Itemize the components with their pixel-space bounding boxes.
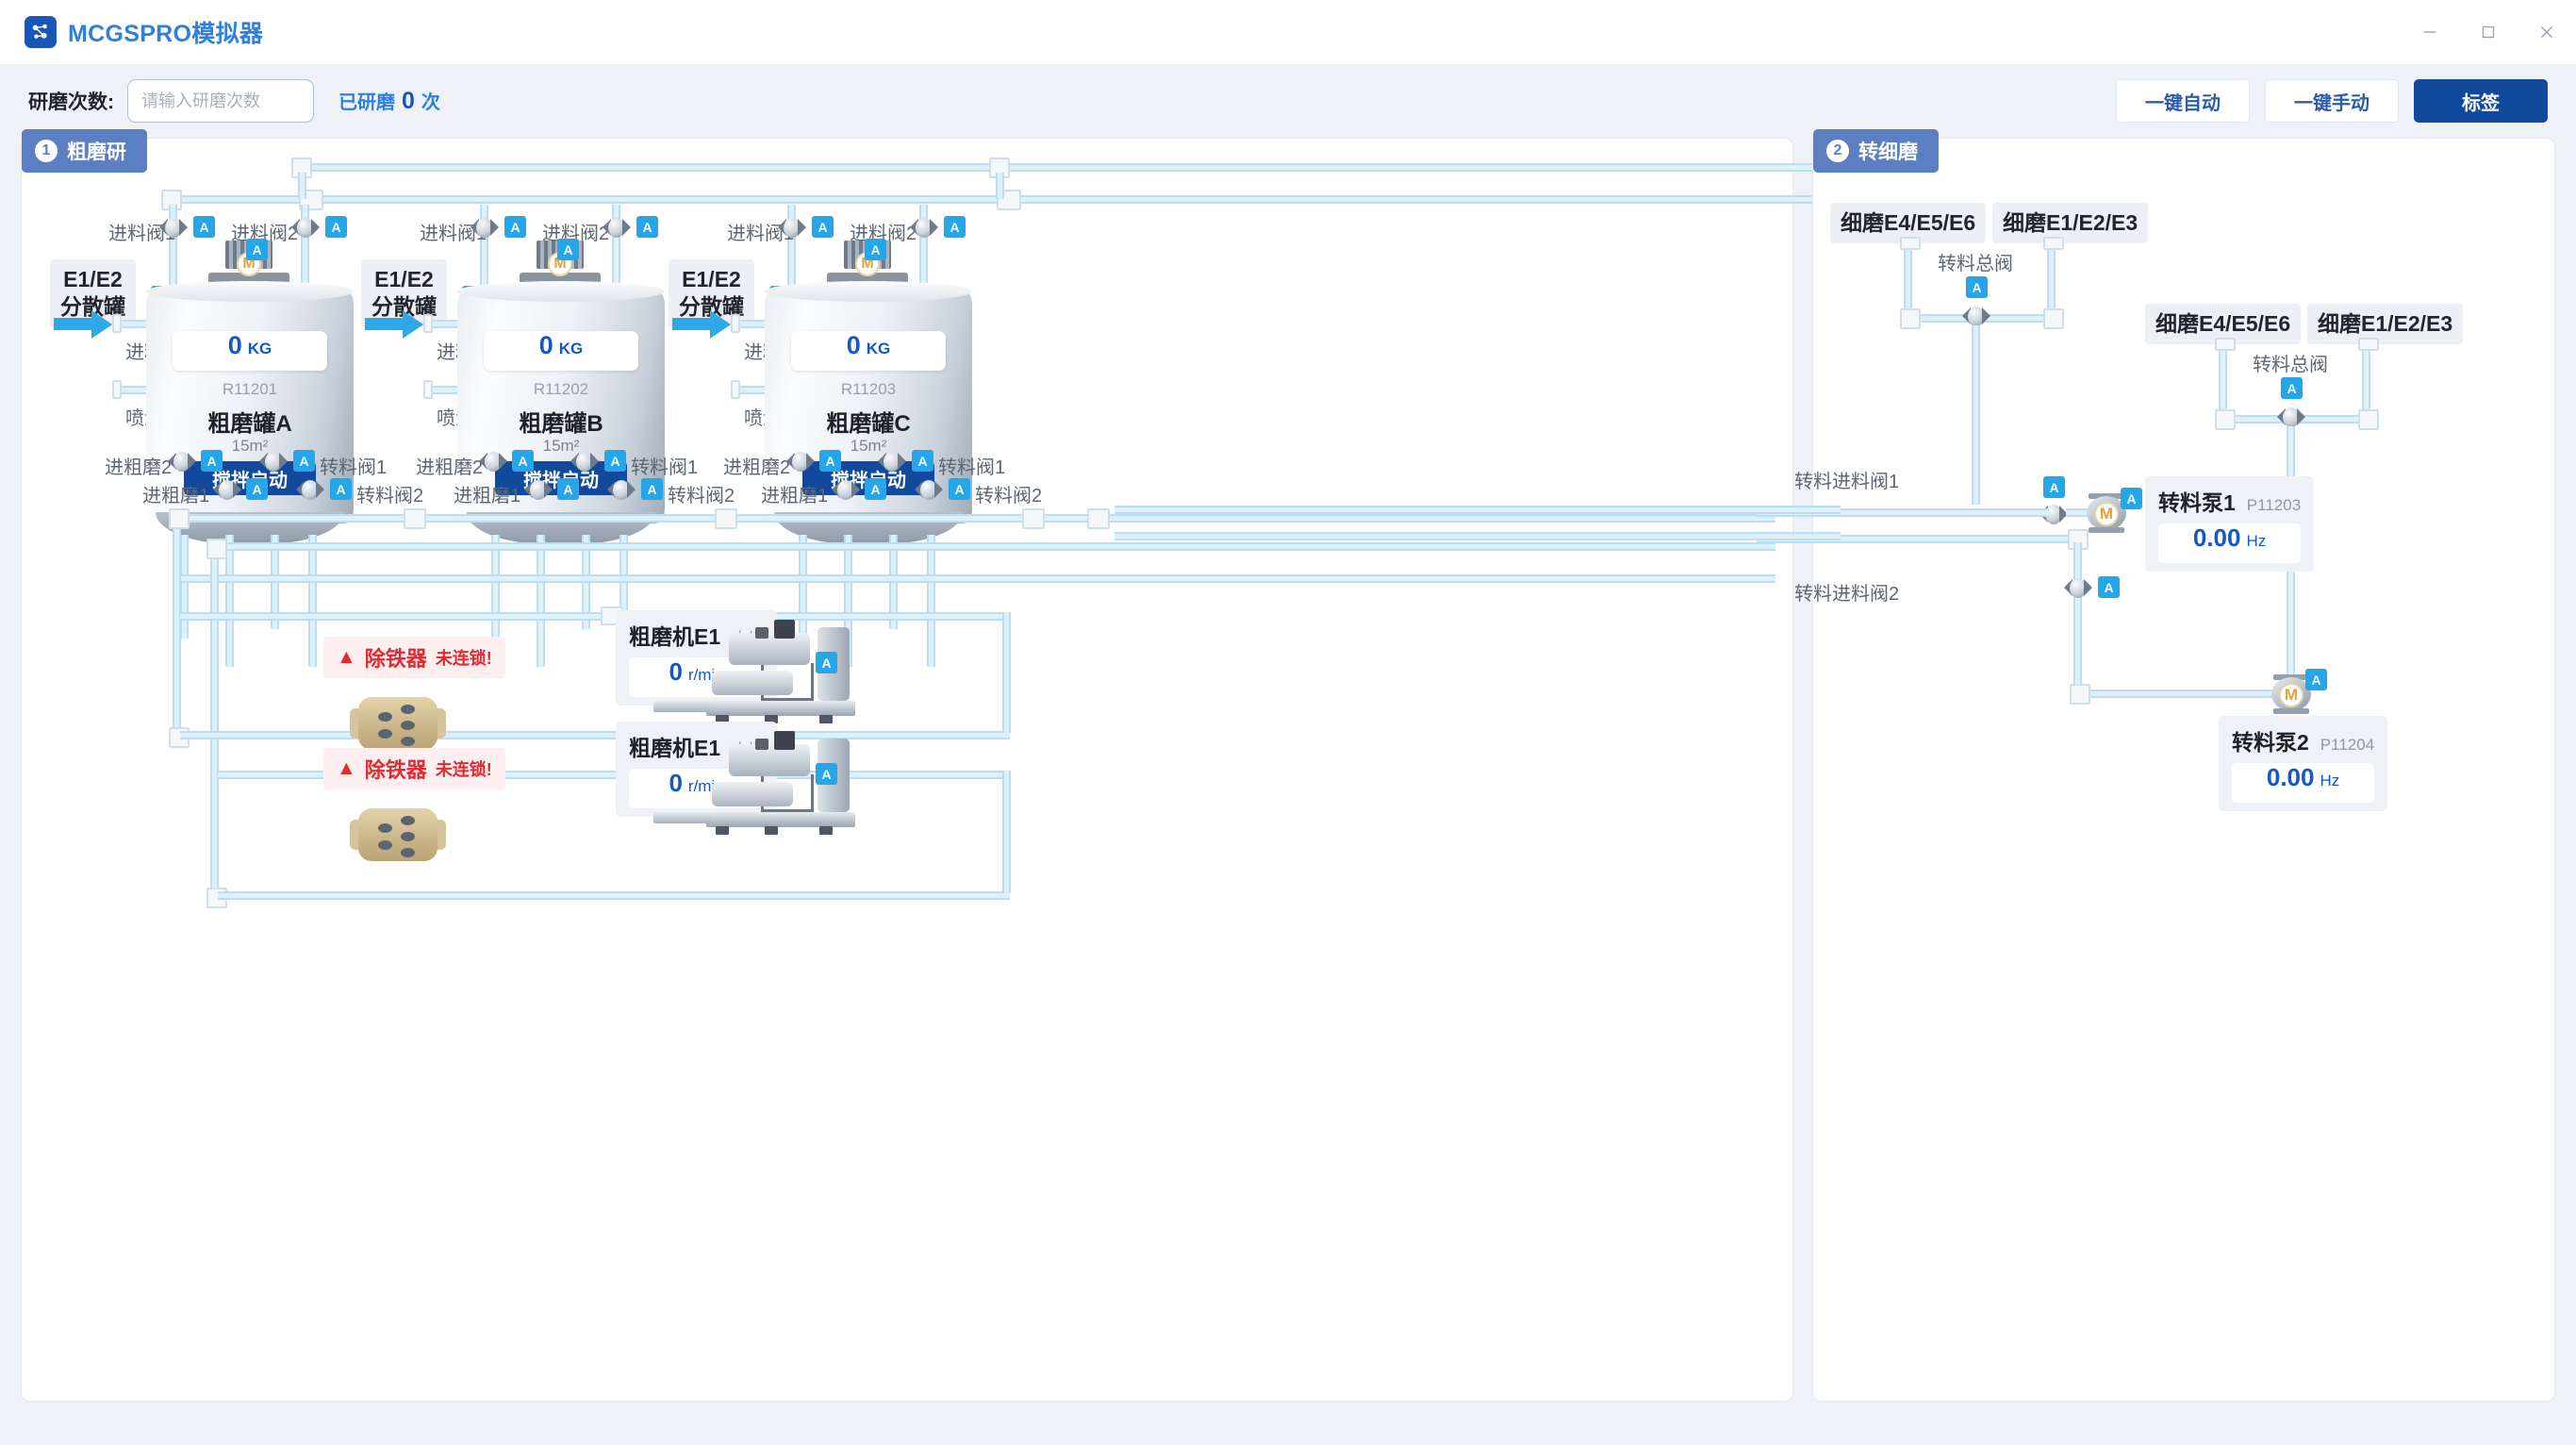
- tank-a-weight: 0 KG: [173, 331, 327, 371]
- transfer-pump-2-value: 0.00: [2267, 763, 2315, 792]
- pipe-elbow: [2358, 409, 2379, 430]
- motor-badge: M: [2094, 502, 2119, 526]
- pipe: [173, 516, 181, 733]
- pipe-cap: [423, 380, 433, 399]
- auto-badge[interactable]: A: [1966, 276, 1988, 298]
- pipe: [1002, 771, 1011, 893]
- motor-badge: M: [2279, 683, 2304, 707]
- pipe: [180, 612, 1010, 621]
- auto-badge[interactable]: A: [912, 450, 933, 472]
- panel-1-badge: 1 粗磨研: [22, 129, 147, 173]
- auto-badge[interactable]: A: [949, 478, 970, 500]
- feed-valve-2-b[interactable]: [603, 216, 631, 241]
- auto-badge[interactable]: A: [201, 450, 223, 472]
- transfer-pump-2-readout: 转料泵2 P11204 0.00 Hz: [2219, 716, 2387, 811]
- pipe-elbow: [1900, 308, 1921, 329]
- auto-badge[interactable]: A: [246, 478, 268, 500]
- auto-badge[interactable]: A: [330, 478, 352, 500]
- pipe: [218, 891, 1010, 900]
- mill-1-speed: 0: [669, 657, 682, 687]
- mill-1-demagnetizer: [350, 697, 446, 750]
- to-coarse-valve-1-b[interactable]: [524, 478, 553, 503]
- valve-label-to-coarse-1-c: 进粗磨1: [761, 480, 828, 507]
- pipe-elbow: [2070, 684, 2090, 705]
- panel-1-title: 粗磨研: [67, 137, 126, 165]
- pipe-cap: [731, 314, 740, 333]
- pipe-cap: [112, 380, 122, 399]
- to-coarse-valve-2-c[interactable]: [786, 450, 815, 474]
- main-transfer-valve-label-1: 转料总阀: [1938, 248, 2013, 275]
- mill-2-alarm-device: 除铁器: [365, 754, 427, 784]
- panel-coarse-grinding: 1 粗磨研 进料阀1 A 进料阀2 A E1/E2 分: [21, 138, 1793, 1402]
- auto-badge[interactable]: A: [2043, 476, 2065, 498]
- transfer-pump-1-name: 转料泵1: [2158, 485, 2236, 517]
- auto-badge[interactable]: A: [636, 216, 658, 238]
- auto-badge[interactable]: A: [557, 239, 579, 260]
- valve-label-transfer-1-b: 转料阀1: [631, 452, 698, 479]
- valve-label-transfer-1-a: 转料阀1: [320, 452, 387, 479]
- feed-valve-1-b[interactable]: [471, 216, 499, 241]
- pipe: [210, 544, 219, 893]
- pipe-cap: [423, 314, 433, 333]
- toolbar: 研磨次数: 已研磨 0 次 一键自动 一键手动 标签: [0, 64, 2576, 138]
- pipe-cap: [1900, 237, 1921, 250]
- pipe: [2047, 241, 2056, 318]
- auto-badge[interactable]: A: [2305, 669, 2327, 690]
- to-coarse-valve-2-b[interactable]: [479, 450, 507, 474]
- auto-badge[interactable]: A: [816, 763, 837, 785]
- grind-count-label: 研磨次数:: [28, 87, 114, 115]
- feed-valve-1-c[interactable]: [778, 216, 806, 241]
- auto-badge[interactable]: A: [2098, 576, 2120, 598]
- pipe-tee: [404, 508, 426, 529]
- pipe: [537, 535, 545, 667]
- pipe: [1972, 325, 1980, 505]
- pipe-cap: [2043, 237, 2064, 250]
- flow-arrow-icon: [54, 310, 114, 339]
- auto-badge[interactable]: A: [641, 478, 663, 500]
- pipe: [173, 574, 1775, 583]
- title-bar: MCGSPRO模拟器: [0, 0, 2576, 64]
- transfer-pump-1-value: 0.00: [2193, 523, 2241, 553]
- tank-b-code: R11202: [457, 380, 665, 399]
- auto-mode-button[interactable]: 一键自动: [2116, 79, 2250, 123]
- auto-badge[interactable]: A: [812, 216, 834, 238]
- tank-c-weight-unit: KG: [867, 340, 891, 358]
- valve-label-transfer-2-a: 转料阀2: [356, 480, 423, 507]
- pipe-elbow: [2215, 409, 2236, 430]
- tank-b-name: 粗磨罐B: [457, 405, 665, 438]
- to-coarse-valve-2-a[interactable]: [168, 450, 196, 474]
- auto-badge[interactable]: A: [504, 216, 526, 238]
- transfer-pump-1-code: P11203: [2247, 496, 2301, 515]
- transfer-valve-1-c[interactable]: [878, 450, 906, 474]
- done-prefix: 已研磨: [339, 87, 395, 114]
- pipe-elbow: [206, 539, 227, 559]
- source-tag-line1: E1/E2: [679, 266, 744, 293]
- auto-badge[interactable]: A: [512, 450, 534, 472]
- warning-triangle-icon: ▲: [337, 646, 356, 669]
- tank-b-weight-value: 0: [539, 331, 553, 360]
- auto-badge[interactable]: A: [865, 239, 886, 260]
- valve-label-transfer-2-c: 转料阀2: [975, 480, 1042, 507]
- pipe-tee: [1022, 508, 1045, 529]
- tag-button[interactable]: 标签: [2414, 79, 2548, 123]
- main-transfer-valve-label-2: 转料总阀: [2253, 349, 2328, 376]
- pipe: [2362, 341, 2370, 419]
- panel-fine-grinding: 2 转细磨 细磨E4/E5/E6 细磨E1/E2/E3 转料总阀 A 细磨E4/…: [1812, 138, 2555, 1402]
- pipe-cap: [112, 314, 122, 333]
- valve-label-transfer-2-b: 转料阀2: [668, 480, 735, 507]
- pipe-cap: [731, 380, 740, 399]
- minimize-icon[interactable]: [2401, 0, 2459, 64]
- mill-2-speed: 0: [669, 769, 682, 798]
- pipe-cross-panel: [1115, 532, 1841, 540]
- transfer-valve-1-b[interactable]: [570, 450, 599, 474]
- mill-2-demagnetizer: [350, 808, 446, 861]
- feed-valve-1[interactable]: [159, 216, 188, 241]
- transfer-pump-1-unit: Hz: [2246, 532, 2266, 551]
- transfer-pump-2-unit: Hz: [2320, 772, 2339, 790]
- auto-badge[interactable]: A: [2281, 377, 2303, 399]
- tank-c-weight-value: 0: [847, 331, 861, 360]
- tank-a-weight-unit: KG: [248, 340, 272, 358]
- flow-arrow-icon: [672, 310, 733, 339]
- toolbar-buttons: 一键自动 一键手动 标签: [2116, 79, 2548, 123]
- fine-tag-e123-2: 细磨E1/E2/E3: [2307, 304, 2463, 344]
- mill-2-alarm-state: 未连锁!: [436, 756, 492, 781]
- tank-b-weight-unit: KG: [559, 340, 584, 358]
- panel-2-number: 2: [1826, 140, 1849, 162]
- to-coarse-valve-1-a[interactable]: [213, 478, 241, 503]
- pipe-cap: [2358, 338, 2379, 351]
- auto-badge[interactable]: A: [325, 216, 347, 238]
- mill-1-alarm-device: 除铁器: [365, 642, 427, 673]
- pipe: [2073, 542, 2082, 693]
- pipe: [308, 535, 317, 667]
- tank-c-code: R11203: [765, 380, 972, 399]
- valve-label-to-coarse-1-a: 进粗磨1: [142, 480, 209, 507]
- auto-badge[interactable]: A: [193, 216, 215, 238]
- auto-badge[interactable]: A: [816, 652, 837, 673]
- pipe: [180, 731, 1010, 739]
- transfer-valve-2-c[interactable]: [915, 478, 943, 503]
- mill-1-alarm: ▲ 除铁器 未连锁!: [323, 637, 505, 678]
- source-tag-line1: E1/E2: [60, 266, 125, 293]
- transfer-pump-1-readout: 转料泵1 P11203 0.00 Hz: [2145, 476, 2314, 572]
- manual-mode-button[interactable]: 一键手动: [2265, 79, 2399, 123]
- window-controls: [2401, 0, 2576, 64]
- mill-2-alarm: ▲ 除铁器 未连锁!: [323, 748, 505, 789]
- auto-badge[interactable]: A: [2121, 488, 2142, 509]
- valve-label-to-coarse-1-b: 进粗磨1: [454, 480, 520, 507]
- mill-1-alarm-state: 未连锁!: [436, 645, 492, 670]
- pipe: [996, 173, 1004, 199]
- app-title: MCGSPRO模拟器: [68, 15, 263, 49]
- to-coarse-valve-1-c[interactable]: [832, 478, 860, 503]
- auto-badge[interactable]: A: [557, 478, 579, 500]
- transfer-inlet-valve-2[interactable]: [2064, 576, 2092, 601]
- pipe: [210, 542, 1775, 551]
- transfer-valve-2-b[interactable]: [607, 478, 636, 503]
- pipe-cap: [2215, 338, 2236, 351]
- pipe: [180, 535, 189, 639]
- valve-label-to-coarse-2-a: 进粗磨2: [105, 452, 172, 479]
- pipe-cross-panel: [1115, 506, 1841, 514]
- auto-badge[interactable]: A: [293, 450, 315, 472]
- auto-badge[interactable]: A: [819, 450, 841, 472]
- pipe: [2077, 689, 2290, 698]
- done-count: 0: [402, 88, 415, 115]
- transfer-inlet-valve-2-label: 转料进料阀2: [1794, 578, 1899, 606]
- pipe: [1904, 241, 1912, 318]
- tank-a-weight-value: 0: [228, 331, 242, 360]
- pipe-tee: [1087, 508, 1110, 529]
- transfer-valve-1-a[interactable]: [259, 450, 288, 474]
- flow-arrow-icon: [365, 310, 425, 339]
- pipe: [2219, 341, 2227, 419]
- fine-tag-e123-1: 细磨E1/E2/E3: [1992, 203, 2148, 243]
- pipe-elbow: [169, 508, 190, 529]
- tank-a-code: R11201: [146, 380, 354, 399]
- valve-label-transfer-1-c: 转料阀1: [938, 452, 1005, 479]
- auto-badge[interactable]: A: [604, 450, 626, 472]
- tank-a-name: 粗磨罐A: [146, 405, 354, 438]
- done-suffix: 次: [421, 87, 440, 114]
- pipe: [298, 173, 306, 199]
- source-tag-line1: E1/E2: [372, 266, 437, 293]
- transfer-inlet-valve-1-label: 转料进料阀1: [1794, 466, 1899, 493]
- tank-c-weight: 0 KG: [791, 331, 946, 371]
- process-diagram: 1 粗磨研 进料阀1 A 进料阀2 A E1/E2 分: [0, 138, 2576, 1445]
- grind-count-input[interactable]: [127, 79, 314, 123]
- app-logo-icon: [25, 16, 57, 48]
- transfer-pump-2-code: P11204: [2320, 736, 2374, 755]
- pipe: [165, 195, 1947, 204]
- transfer-valve-2-a[interactable]: [296, 478, 324, 503]
- tank-c-name: 粗磨罐C: [765, 405, 972, 438]
- panel-2-title: 转细磨: [1858, 137, 1918, 165]
- auto-badge[interactable]: A: [944, 216, 966, 238]
- close-icon[interactable]: [2518, 0, 2576, 64]
- grind-done-status: 已研磨 0 次: [339, 87, 440, 115]
- panel-2-badge: 2 转细磨: [1813, 129, 1939, 173]
- valve-label-to-coarse-2-c: 进粗磨2: [723, 452, 790, 479]
- warning-triangle-icon: ▲: [337, 757, 356, 780]
- auto-badge[interactable]: A: [246, 239, 268, 260]
- valve-label-to-coarse-2-b: 进粗磨2: [416, 452, 483, 479]
- pipe: [1002, 612, 1011, 733]
- pipe-elbow: [2043, 308, 2064, 329]
- pipe: [927, 535, 935, 667]
- tank-b-weight: 0 KG: [484, 331, 638, 371]
- auto-badge[interactable]: A: [865, 478, 886, 500]
- pipe: [295, 163, 993, 172]
- panel-1-number: 1: [35, 140, 58, 162]
- transfer-pump-2-name: 转料泵2: [2232, 724, 2309, 756]
- feed-valve-2-c[interactable]: [910, 216, 938, 241]
- pipe-tee: [715, 508, 737, 529]
- maximize-icon[interactable]: [2459, 0, 2518, 64]
- feed-valve-2[interactable]: [291, 216, 320, 241]
- pipe: [993, 163, 1945, 172]
